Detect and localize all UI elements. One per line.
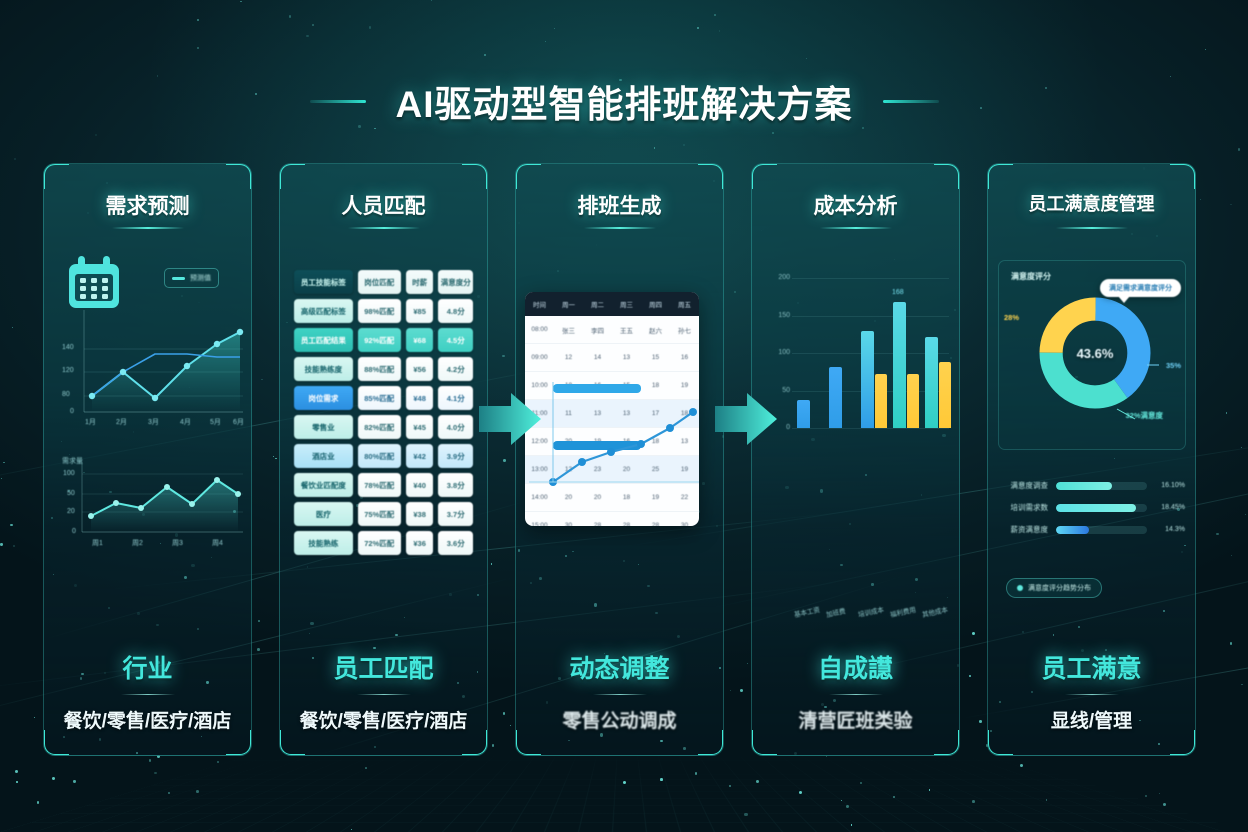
chart1-svg — [50, 304, 247, 429]
particle-dot — [1231, 555, 1232, 556]
donut-label-teal: 32%满意度 — [1125, 410, 1163, 421]
particle-dot — [1245, 514, 1246, 515]
particle-dot — [841, 800, 842, 801]
table-cell-name: 高级匹配标签 — [294, 299, 353, 323]
card-row: 需求预测 预测值 — [43, 163, 1196, 756]
table-cell-score: 4.5分 — [438, 328, 473, 352]
bar-secondary[interactable] — [875, 374, 887, 428]
chart2-ytick-2: 20 — [67, 508, 75, 515]
title-underline — [112, 227, 184, 229]
table-cell-wage: ¥38 — [406, 502, 434, 526]
card-title: 人员匹配 — [280, 190, 487, 220]
particle-dot — [846, 805, 849, 808]
particle-dot — [197, 19, 199, 21]
corner-top-right — [1170, 163, 1196, 189]
table-row[interactable]: 医疗75%匹配¥383.7分 — [294, 502, 473, 526]
bar-ytick: 150 — [766, 312, 790, 319]
corner-top-right — [934, 163, 960, 189]
chart1-ytick-1: 120 — [62, 367, 74, 374]
card-demand-forecast[interactable]: 需求预测 预测值 — [43, 163, 252, 756]
corner-bottom-left — [515, 730, 541, 756]
corner-bottom-right — [698, 730, 724, 756]
table-row[interactable]: 餐饮业匹配度78%匹配¥403.8分 — [294, 473, 473, 497]
footer-rule — [829, 694, 883, 695]
table-cell-score: 4.8分 — [438, 299, 473, 323]
table-row[interactable]: 岗位需求85%匹配¥484.1分 — [294, 386, 473, 410]
progress-value: 16.10% — [1155, 482, 1185, 489]
particle-dot — [95, 134, 97, 136]
particle-dot — [1230, 204, 1231, 205]
progress-row: 薪资满意度14.3% — [1000, 524, 1185, 535]
particle-dot — [851, 824, 853, 826]
table-cell-match: 98%匹配 — [358, 299, 401, 323]
panel-title: 满意度评分 — [1011, 271, 1051, 282]
donut-label-blue: 35% — [1166, 361, 1181, 370]
footer-rule — [357, 694, 411, 695]
particle-dot — [860, 782, 862, 784]
corner-bottom-left — [43, 730, 69, 756]
satisfaction-panel: 满意度评分 43.6% 28% 35% 32%满意度 满 — [998, 260, 1186, 450]
page-title: AI驱动型智能排班解决方案 — [396, 74, 853, 128]
card-title: 排班生成 — [516, 190, 723, 220]
table-cell-name: 员工匹配结果 — [294, 328, 353, 352]
bar-value-label: 168 — [892, 289, 904, 296]
particle-dot — [1145, 795, 1148, 798]
legend-label: 预测值 — [190, 273, 211, 283]
progress-track — [1056, 482, 1147, 490]
card-staff-matching[interactable]: 人员匹配 员工技能标签岗位匹配时薪满意度分高级匹配标签98%匹配¥854.8分员… — [279, 163, 488, 756]
chart1-xtick-4: 5月 — [210, 417, 221, 427]
footer-rule — [121, 694, 175, 695]
page-header: AI驱动型智能排班解决方案 — [0, 74, 1248, 128]
particle-dot — [13, 545, 15, 547]
corner-top-left — [751, 163, 777, 189]
chart2-svg — [50, 452, 247, 552]
particle-dot — [1020, 764, 1023, 767]
corner-top-right — [462, 163, 488, 189]
card-body: 200150100500基本工资加班费培训成本福利费用其他成本168 — [752, 252, 959, 607]
table-cell-score: 3.6分 — [438, 531, 473, 555]
particle-dot — [683, 144, 686, 147]
table-row[interactable]: 酒店业80%匹配¥423.9分 — [294, 444, 473, 468]
particle-dot — [826, 756, 827, 757]
particle-dot — [217, 761, 219, 763]
donut-tooltip: 满足需求满意度评分 — [1100, 279, 1181, 297]
card-title: 需求预测 — [44, 190, 251, 220]
particle-dot — [714, 14, 716, 16]
flow-arrow-2 — [715, 390, 777, 448]
particle-dot — [806, 58, 807, 59]
particle-dot — [14, 158, 17, 161]
table-cell-name: 零售业 — [294, 415, 353, 439]
table-cell-match: 岗位匹配 — [358, 270, 401, 294]
corner-top-left — [279, 163, 305, 189]
schedule-sheet[interactable]: 时间周一周二周三周四周五 08:00张三李四王五赵六孙七09:001214131… — [525, 292, 699, 526]
table-cell-score: 4.1分 — [438, 386, 473, 410]
table-row[interactable]: 员工匹配结果92%匹配¥684.5分 — [294, 328, 473, 352]
bar-gridline — [792, 316, 949, 317]
chart2-xtick-0: 周1 — [92, 538, 103, 548]
card-cost-analysis[interactable]: 成本分析 200150100500基本工资加班费培训成本福利费用其他成本168 … — [751, 163, 960, 756]
satisfaction-donut-chart[interactable]: 43.6% — [1037, 295, 1153, 411]
donut-label-yellow: 28% — [1004, 313, 1019, 322]
card-footer: 行业 餐饮/零售/医疗/酒店 — [54, 649, 241, 733]
cost-bar-chart: 200150100500基本工资加班费培训成本福利费用其他成本168 — [766, 278, 949, 603]
table-cell-wage: ¥36 — [406, 531, 434, 555]
progress-fill — [1056, 504, 1136, 512]
card-body: 员工技能标签岗位匹配时薪满意度分高级匹配标签98%匹配¥854.8分员工匹配结果… — [280, 252, 487, 607]
progress-label: 培训需求数 — [1000, 502, 1048, 513]
particle-dot — [34, 717, 35, 718]
chart1-ytick-2: 80 — [62, 391, 70, 398]
particle-dot — [719, 30, 721, 32]
particle-dot — [1163, 803, 1166, 806]
particle-dot — [1241, 684, 1243, 686]
table-cell-name: 酒店业 — [294, 444, 353, 468]
table-cell-match: 78%匹配 — [358, 473, 401, 497]
progress-fill — [1056, 482, 1112, 490]
particle-dot — [369, 26, 371, 28]
particle-dot — [1200, 199, 1201, 200]
progress-fill — [1056, 526, 1089, 534]
particle-dot — [1046, 799, 1048, 801]
corner-top-right — [226, 163, 252, 189]
footer-title: 动态调整 — [526, 649, 713, 685]
title-underline — [820, 227, 892, 229]
footer-title: 员工匹配 — [290, 649, 477, 685]
particle-dot — [1226, 412, 1228, 414]
particle-dot — [660, 778, 663, 781]
corner-bottom-right — [1170, 730, 1196, 756]
chart2-xtick-3: 周4 — [212, 538, 223, 548]
progress-track — [1056, 526, 1147, 534]
particle-dot — [1241, 447, 1243, 449]
sheet-overlay-line-chart — [525, 292, 699, 526]
demand-forecast-line-chart: 140 120 80 0 1月 2月 3月 4月 5月 6月 — [50, 304, 245, 429]
chart1-xtick-1: 2月 — [116, 417, 127, 427]
particle-dot — [289, 15, 292, 18]
footer-subtitle: 零售公动调成 — [526, 706, 713, 733]
corner-bottom-left — [279, 730, 305, 756]
table-cell-wage: ¥45 — [406, 415, 434, 439]
corner-top-left — [43, 163, 69, 189]
bar-primary[interactable] — [861, 331, 874, 429]
chart1-xtick-0: 1月 — [85, 417, 96, 427]
particle-dot — [365, 767, 367, 769]
particle-dot — [1159, 793, 1160, 794]
particle-dot — [929, 789, 931, 791]
particle-dot — [16, 781, 18, 783]
particle-dot — [623, 781, 626, 784]
particle-dot — [306, 35, 308, 37]
footer-subtitle: 清营匠班类验 — [762, 706, 949, 733]
particle-dot — [1238, 148, 1240, 150]
footer-title: 自成譿 — [762, 649, 949, 685]
particle-dot — [697, 27, 699, 29]
corner-bottom-left — [751, 730, 777, 756]
particle-dot — [10, 524, 13, 527]
satisfaction-legend[interactable]: 满意度评分趋势分布 — [1006, 578, 1102, 598]
card-body: 预测值 — [44, 252, 251, 607]
card-body: 满意度评分 43.6% 28% 35% 32%满意度 满 — [988, 252, 1195, 607]
progress-track — [1056, 504, 1147, 512]
table-cell-wage: 时薪 — [406, 270, 434, 294]
chart2-ytick-0: 100 — [63, 470, 75, 477]
table-cell-name: 技能熟练 — [294, 531, 353, 555]
particle-dot — [431, 0, 432, 1]
particle-dot — [1216, 533, 1219, 536]
corner-bottom-left — [987, 730, 1013, 756]
chart2-xtick-2: 周3 — [172, 538, 183, 548]
bar-primary[interactable] — [893, 302, 906, 428]
particle-dot — [972, 800, 975, 803]
chart2-ytick-1: 50 — [67, 490, 75, 497]
corner-top-right — [698, 163, 724, 189]
title-underline — [348, 227, 420, 229]
particle-dot — [196, 790, 199, 793]
table-cell-wage: ¥68 — [406, 328, 434, 352]
chart1-ytick-3: 0 — [70, 408, 74, 415]
bar-ytick: 200 — [766, 274, 790, 281]
particle-dot — [73, 780, 75, 782]
bar-gridline — [792, 428, 949, 429]
footer-rule — [593, 694, 647, 695]
table-cell-match: 85%匹配 — [358, 386, 401, 410]
donut-center-value: 43.6% — [1037, 295, 1153, 411]
particle-dot — [240, 1, 242, 3]
chart2-xtick-1: 周2 — [132, 538, 143, 548]
particle-dot — [3, 462, 5, 464]
weekly-demand-line-chart: 需求量 100 50 20 0 周1 周2 周3 周4 — [50, 452, 245, 562]
particle-dot — [799, 791, 802, 794]
staff-match-table[interactable]: 员工技能标签岗位匹配时薪满意度分高级匹配标签98%匹配¥854.8分员工匹配结果… — [294, 270, 473, 555]
table-cell-name: 员工技能标签 — [294, 270, 353, 294]
table-cell-wage: ¥48 — [406, 386, 434, 410]
particle-dot — [197, 47, 199, 49]
chart1-xtick-5: 6月 — [233, 417, 244, 427]
title-rule-left — [310, 100, 366, 103]
card-footer: 自成譿 清营匠班类验 — [762, 649, 949, 733]
progress-value: 18.45% — [1155, 504, 1185, 511]
footer-title: 行业 — [54, 649, 241, 685]
chart2-ytick-3: 0 — [72, 528, 76, 535]
card-employee-satisfaction[interactable]: 员工满意度管理 满意度评分 43.6% 28% 35% 32%满意度 — [987, 163, 1196, 756]
card-title: 员工满意度管理 — [988, 190, 1195, 216]
table-cell-match: 75%匹配 — [358, 502, 401, 526]
title-underline — [1056, 227, 1128, 229]
card-footer: 员工匹配 餐饮/零售/医疗/酒店 — [290, 649, 477, 733]
table-cell-match: 82%匹配 — [358, 415, 401, 439]
corner-top-left — [987, 163, 1013, 189]
particle-dot — [729, 785, 731, 787]
legend-dot-icon — [1017, 585, 1023, 591]
particle-dot — [744, 813, 747, 816]
bar-xtick: 福利费用 — [889, 604, 917, 619]
table-cell-score: 3.8分 — [438, 473, 473, 497]
particle-dot — [545, 41, 546, 42]
table-cell-name: 餐饮业匹配度 — [294, 473, 353, 497]
corner-bottom-right — [934, 730, 960, 756]
footer-subtitle: 显线/管理 — [998, 706, 1185, 733]
footer-rule — [1065, 694, 1119, 695]
table-row[interactable]: 零售业82%匹配¥454.0分 — [294, 415, 473, 439]
table-cell-match: 88%匹配 — [358, 357, 401, 381]
particle-dot — [15, 770, 18, 773]
particle-dot — [149, 759, 152, 762]
chart-legend-pill: 预测值 — [164, 268, 219, 288]
particle-dot — [772, 132, 774, 134]
table-row[interactable]: 技能熟练度88%匹配¥564.2分 — [294, 357, 473, 381]
title-underline — [584, 227, 656, 229]
chart1-xtick-3: 4月 — [180, 417, 191, 427]
particle-dot — [554, 28, 555, 29]
progress-value: 14.3% — [1155, 526, 1185, 533]
table-cell-score: 3.7分 — [438, 502, 473, 526]
table-cell-score: 4.2分 — [438, 357, 473, 381]
chart1-ytick-0: 140 — [62, 344, 74, 351]
bar-xtick: 培训成本 — [857, 604, 885, 619]
particle-dot — [756, 780, 759, 783]
card-footer: 动态调整 零售公动调成 — [526, 649, 713, 733]
table-row[interactable]: 员工技能标签岗位匹配时薪满意度分 — [294, 270, 473, 294]
particle-dot — [1205, 49, 1206, 50]
bar-primary[interactable] — [925, 337, 938, 429]
corner-bottom-right — [462, 730, 488, 756]
particle-dot — [0, 543, 2, 545]
particle-dot — [168, 792, 170, 794]
bar-gridline — [792, 278, 949, 279]
particle-dot — [154, 772, 157, 775]
table-cell-name: 医疗 — [294, 502, 353, 526]
title-rule-right — [883, 100, 939, 103]
flow-arrow-1 — [479, 390, 541, 448]
bar-xtick: 基本工资 — [793, 604, 821, 619]
table-cell-score: 4.0分 — [438, 415, 473, 439]
particle-dot — [351, 829, 352, 830]
card-title: 成本分析 — [752, 190, 959, 220]
particle-dot — [37, 801, 40, 804]
bar-ytick: 100 — [766, 349, 790, 356]
table-cell-name: 岗位需求 — [294, 386, 353, 410]
footer-title: 员工满意 — [998, 649, 1185, 685]
particle-dot — [893, 796, 895, 798]
progress-row: 满意度调查16.10% — [1000, 480, 1185, 491]
legend-label: 满意度评分趋势分布 — [1028, 583, 1091, 593]
particle-dot — [52, 777, 55, 780]
table-cell-score: 3.9分 — [438, 444, 473, 468]
table-cell-match: 80%匹配 — [358, 444, 401, 468]
table-cell-wage: ¥85 — [406, 299, 434, 323]
particle-dot — [1230, 642, 1232, 644]
table-cell-score: 满意度分 — [438, 270, 473, 294]
card-schedule-generation[interactable]: 排班生成 时间周一周二周三周四周五 08:00张三李四王五赵六孙七09:0012… — [515, 163, 724, 756]
bar-secondary[interactable] — [939, 362, 951, 428]
bar-primary[interactable] — [829, 367, 842, 429]
table-cell-name: 技能熟练度 — [294, 357, 353, 381]
bar-primary[interactable] — [797, 400, 810, 429]
particle-dot — [695, 772, 698, 775]
progress-label: 满意度调查 — [1000, 480, 1048, 491]
bar-xtick: 加班费 — [825, 605, 846, 619]
particle-dot — [484, 54, 486, 56]
legend-dash-icon — [172, 277, 185, 280]
chart1-xtick-2: 3月 — [148, 417, 159, 427]
progress-label: 薪资满意度 — [1000, 524, 1048, 535]
particle-dot — [654, 147, 656, 149]
corner-bottom-right — [226, 730, 252, 756]
corner-top-left — [515, 163, 541, 189]
bar-xtick: 其他成本 — [921, 604, 949, 619]
bar-secondary[interactable] — [907, 374, 919, 428]
table-cell-wage: ¥40 — [406, 473, 434, 497]
progress-row: 培训需求数18.45% — [1000, 502, 1185, 513]
table-cell-match: 92%匹配 — [358, 328, 401, 352]
table-cell-match: 72%匹配 — [358, 531, 401, 555]
footer-subtitle: 餐饮/零售/医疗/酒店 — [54, 706, 241, 733]
particle-dot — [312, 24, 314, 26]
table-cell-wage: ¥56 — [406, 357, 434, 381]
table-row[interactable]: 高级匹配标签98%匹配¥854.8分 — [294, 299, 473, 323]
card-footer: 员工满意 显线/管理 — [998, 649, 1185, 733]
particle-dot — [1, 478, 2, 479]
particle-dot — [12, 327, 13, 328]
table-cell-wage: ¥42 — [406, 444, 434, 468]
table-row[interactable]: 技能熟练72%匹配¥363.6分 — [294, 531, 473, 555]
card-body: 时间周一周二周三周四周五 08:00张三李四王五赵六孙七09:001214131… — [516, 252, 723, 607]
chart2-ylabel: 需求量 — [62, 456, 83, 466]
footer-subtitle: 餐饮/零售/医疗/酒店 — [290, 706, 477, 733]
